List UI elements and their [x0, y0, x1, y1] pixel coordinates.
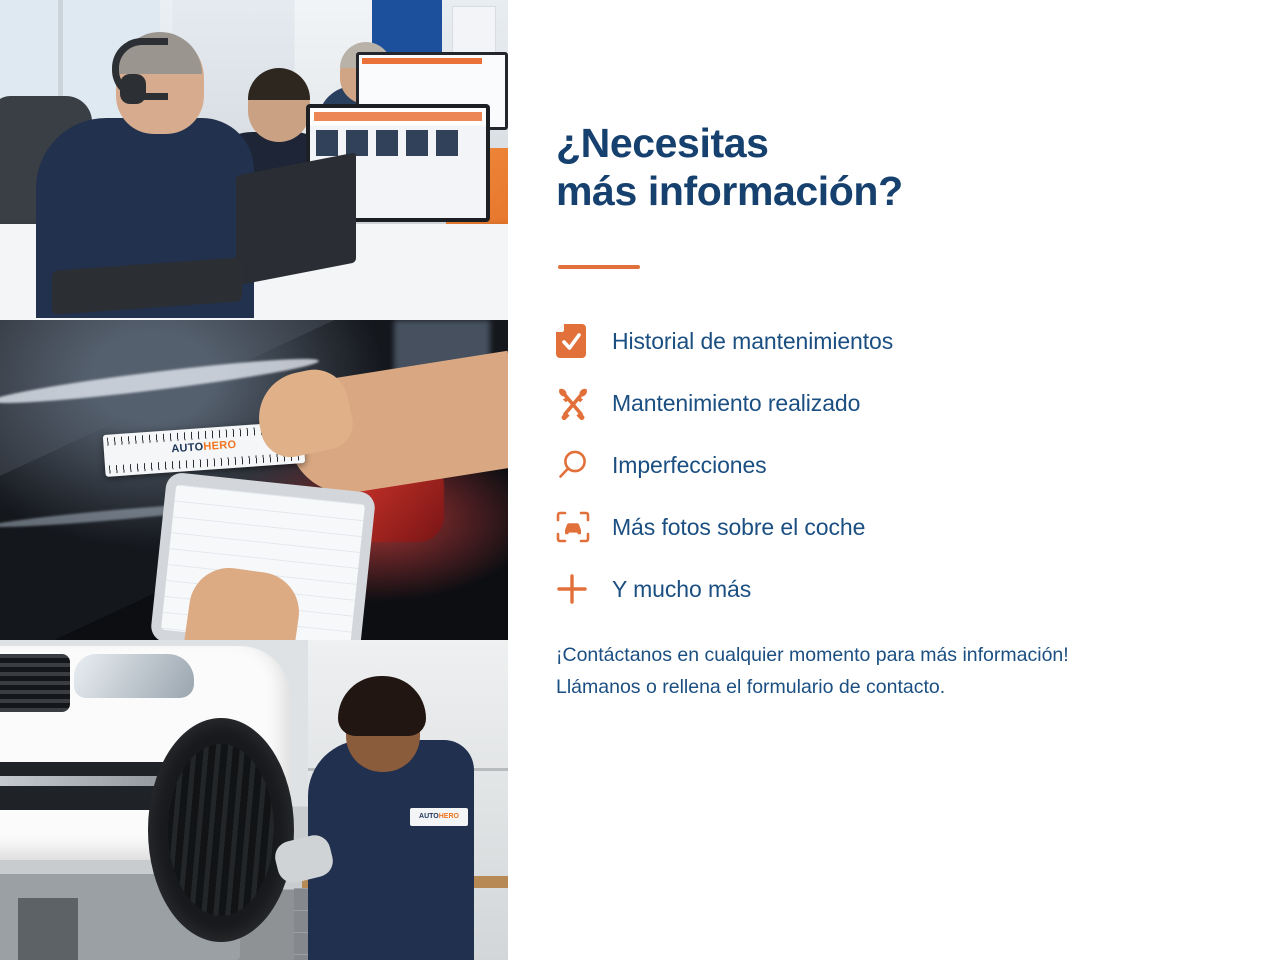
content-column: ¿Necesitas más información? Historial de… [508, 0, 1280, 960]
title-line-1: ¿Necesitas [556, 120, 769, 166]
technician-body [308, 740, 474, 960]
title-divider [558, 265, 640, 269]
call-center-agents-photo [0, 0, 508, 320]
title-line-2: más información? [556, 168, 903, 214]
feature-list: Historial de mantenimientos [556, 310, 1026, 620]
feature-item-mantenimiento: Mantenimiento realizado [556, 372, 1026, 434]
feature-item-mucho-mas: Y mucho más [556, 558, 1026, 620]
agent-earcup [120, 74, 146, 104]
feature-label: Y mucho más [612, 576, 751, 603]
feature-label: Imperfecciones [612, 452, 767, 479]
workshop-technician-photo: AUTOHERO [0, 640, 508, 960]
plus-icon [556, 573, 612, 605]
feature-item-imperfecciones: Imperfecciones [556, 434, 1026, 496]
page-title: ¿Necesitas más información? [556, 120, 986, 216]
laptop [236, 152, 356, 285]
car-focus-icon [556, 511, 612, 543]
contact-line-1: ¡Contáctanos en cualquier momento para m… [556, 640, 1236, 672]
feature-item-historial: Historial de mantenimientos [556, 310, 1026, 372]
photo-column: AUTOHERO AUTOHERO [0, 0, 508, 960]
car-tire [148, 718, 294, 942]
contact-paragraph: ¡Contáctanos en cualquier momento para m… [556, 640, 1236, 703]
agent-two-hair [248, 68, 310, 100]
car-inspection-ruler-photo: AUTOHERO [0, 320, 508, 640]
car-grille [0, 654, 70, 712]
feature-label: Historial de mantenimientos [612, 328, 893, 355]
tools-icon [556, 386, 612, 420]
contact-line-2: Llámanos o rellena el formulario de cont… [556, 672, 1236, 704]
info-promo-page: AUTOHERO AUTOHERO [0, 0, 1280, 960]
car-headlight [74, 654, 194, 698]
feature-label: Mantenimiento realizado [612, 390, 860, 417]
feature-item-fotos: Más fotos sobre el coche [556, 496, 1026, 558]
document-check-icon [556, 324, 612, 358]
uniform-autohero-patch: AUTOHERO [410, 808, 468, 826]
feature-label: Más fotos sobre el coche [612, 514, 865, 541]
magnifier-icon [556, 449, 612, 481]
